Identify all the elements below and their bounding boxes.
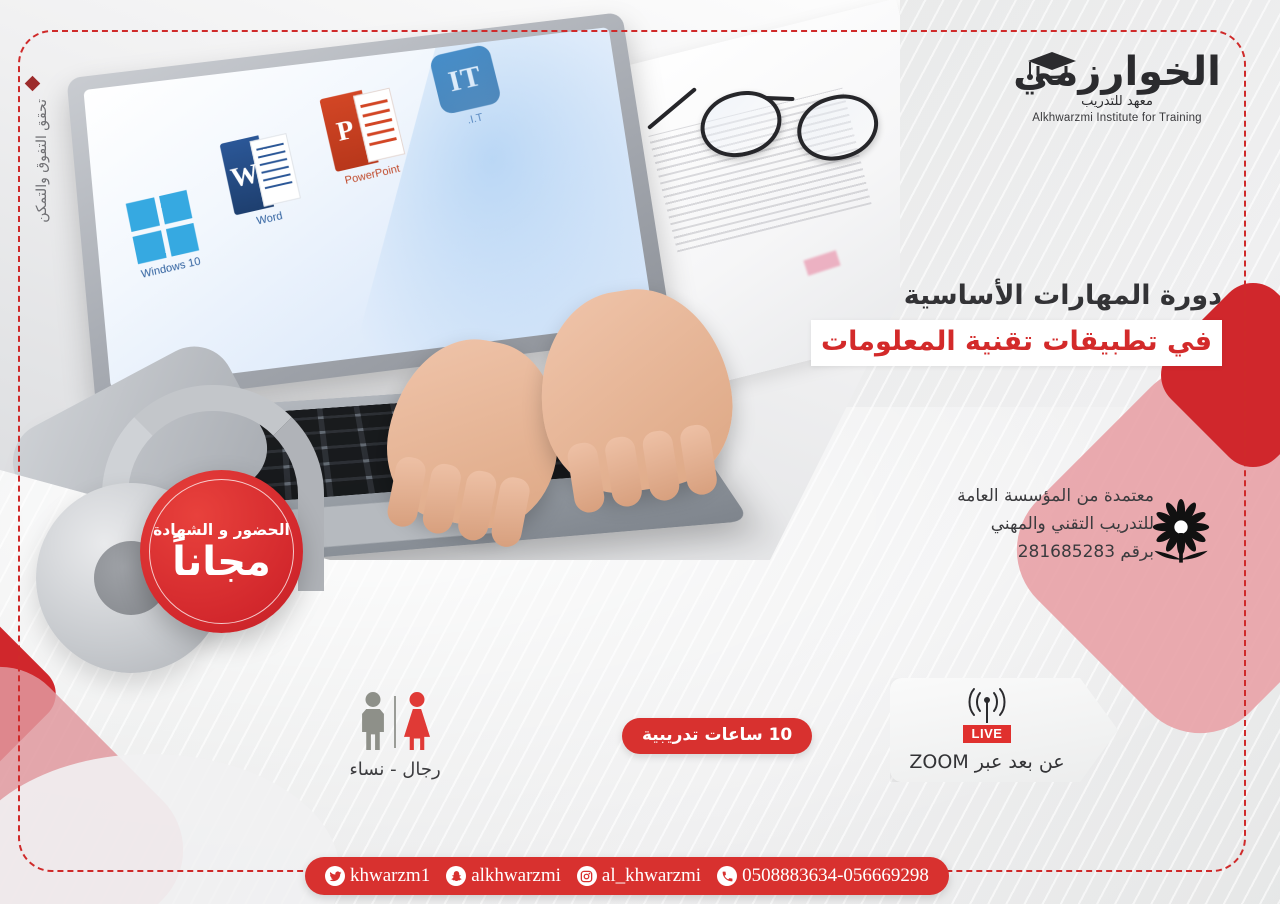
social-phone[interactable]: 0508883634-056669298 <box>717 865 929 887</box>
broadcast-antenna-icon <box>958 687 1016 723</box>
ms-word-icon: W <box>220 130 300 216</box>
app-windows-10: Windows 10 <box>126 190 203 281</box>
hours-badge: 10 ساعات تدريبية <box>622 718 812 754</box>
social-handle: alkhwarzmi <box>471 865 561 887</box>
tvtc-palm-icon <box>1144 496 1218 570</box>
diamond-bullet-icon <box>24 76 40 92</box>
live-badge: LIVE <box>963 725 1012 743</box>
app-it: IT I.T. <box>429 44 507 132</box>
institute-logo: الخوارزمي معهد للتدريب Alkhwarzmi Instit… <box>1012 52 1222 124</box>
logo-sub-english: Alkhwarzmi Institute for Training <box>1012 112 1222 124</box>
course-title-line1: دورة المهارات الأساسية <box>802 278 1222 314</box>
divider <box>394 696 396 748</box>
app-powerpoint: P PowerPoint <box>319 84 407 188</box>
accreditation-text: معتمدة من المؤسسة العامة للتدريب التقني … <box>854 482 1154 566</box>
audience-label: رجال - نساء <box>340 759 450 780</box>
social-bar: khwarzm1 alkhwarzmi al_khwarzmi 05088836… <box>305 857 949 895</box>
course-title-line2: في تطبيقات تقنية المعلومات <box>811 320 1222 365</box>
social-twitter[interactable]: khwarzm1 <box>325 865 430 887</box>
man-icon <box>358 692 388 750</box>
audience-icons <box>340 688 450 750</box>
free-badge-line2: مجاناً <box>172 542 271 582</box>
free-badge: الحضور و الشهادة مجاناً <box>140 470 303 633</box>
phone-icon <box>717 866 737 886</box>
social-handle: al_khwarzmi <box>602 865 701 887</box>
accreditation-line3: برقم 281685283 <box>854 538 1154 566</box>
logo-sub-arabic: معهد للتدريب <box>1012 94 1222 109</box>
windows-10-icon <box>126 190 199 264</box>
side-note: تحقق التفوق والتمكن <box>14 78 50 223</box>
accreditation-line1: معتمدة من المؤسسة العامة <box>854 482 1154 510</box>
delivery-text: عن بعد عبر ZOOM <box>909 751 1064 773</box>
delivery-mode-box: LIVE عن بعد عبر ZOOM <box>890 678 1118 782</box>
poster-canvas: Windows 10 W Word <box>0 0 1280 904</box>
ms-powerpoint-icon: P <box>319 84 404 172</box>
woman-icon <box>402 692 432 750</box>
social-handle: khwarzm1 <box>350 865 430 887</box>
social-handle: 0508883634-056669298 <box>742 865 929 887</box>
side-note-text: تحقق التفوق والتمكن <box>34 99 50 223</box>
snapchat-icon <box>446 866 466 886</box>
app-label: I.T. <box>444 107 506 132</box>
social-instagram[interactable]: al_khwarzmi <box>577 865 701 887</box>
social-snapchat[interactable]: alkhwarzmi <box>446 865 561 887</box>
accreditation-line2: للتدريب التقني والمهني <box>854 510 1154 538</box>
it-icon: IT <box>429 44 503 116</box>
graduation-cap-icon <box>1024 48 1080 84</box>
audience-block: رجال - نساء <box>340 688 450 780</box>
decorative-white-swoop <box>0 754 340 904</box>
instagram-icon <box>577 866 597 886</box>
app-word: W Word <box>220 130 304 232</box>
free-badge-line1: الحضور و الشهادة <box>153 521 290 540</box>
twitter-icon <box>325 866 345 886</box>
course-title-block: دورة المهارات الأساسية في تطبيقات تقنية … <box>802 278 1222 366</box>
